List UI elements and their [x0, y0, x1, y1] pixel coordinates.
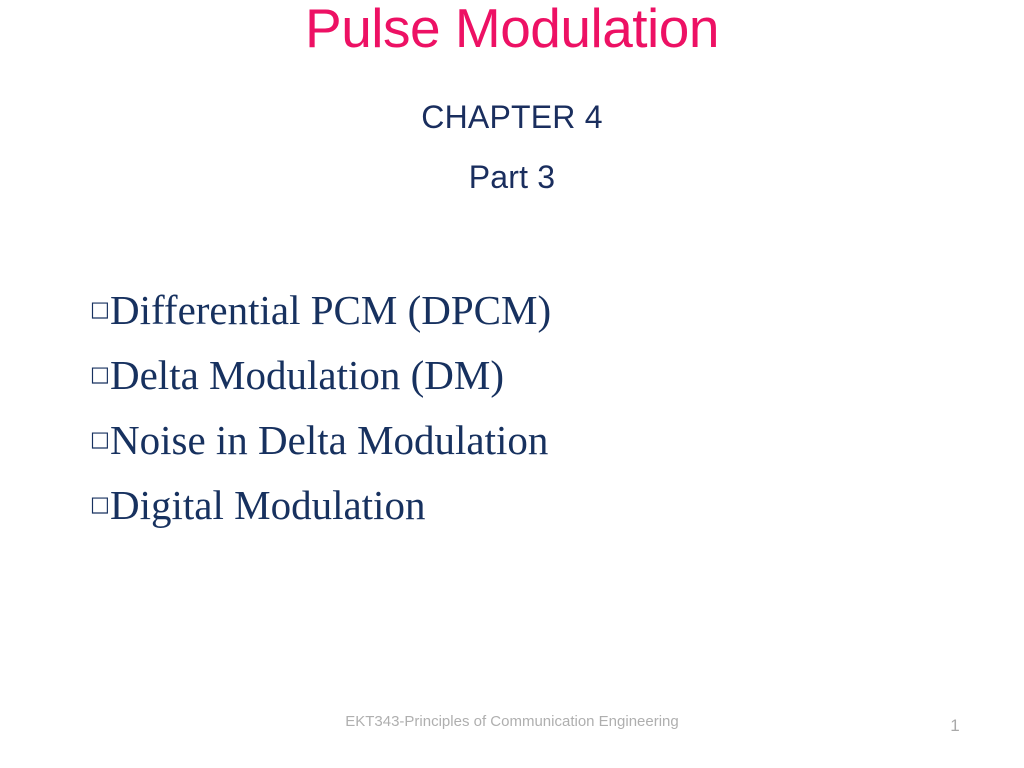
subtitle-chapter: CHAPTER 4 [0, 101, 1024, 133]
list-item-label: Digital Modulation [110, 482, 425, 528]
bullet-list: □ Differential PCM (DPCM) □ Delta Modula… [90, 287, 970, 547]
list-item: □ Noise in Delta Modulation [90, 417, 970, 482]
square-bullet-icon: □ [90, 286, 110, 332]
subtitle-part: Part 3 [0, 161, 1024, 193]
list-item-label: Delta Modulation (DM) [110, 352, 504, 398]
list-item: □ Digital Modulation [90, 482, 970, 547]
subtitle-block: CHAPTER 4 Part 3 [0, 101, 1024, 193]
square-bullet-icon: □ [90, 481, 110, 527]
page-title: Pulse Modulation [0, 0, 1024, 60]
square-bullet-icon: □ [90, 416, 110, 462]
slide-canvas: Pulse Modulation CHAPTER 4 Part 3 □ Diff… [0, 0, 1024, 768]
list-item-label: Differential PCM (DPCM) [110, 287, 551, 333]
square-bullet-icon: □ [90, 351, 110, 397]
list-item: □ Differential PCM (DPCM) [90, 287, 970, 352]
slide-page-number: 1 [930, 716, 980, 736]
list-item: □ Delta Modulation (DM) [90, 352, 970, 417]
list-item-label: Noise in Delta Modulation [110, 417, 548, 463]
slide-footer-text: EKT343-Principles of Communication Engin… [282, 710, 742, 733]
